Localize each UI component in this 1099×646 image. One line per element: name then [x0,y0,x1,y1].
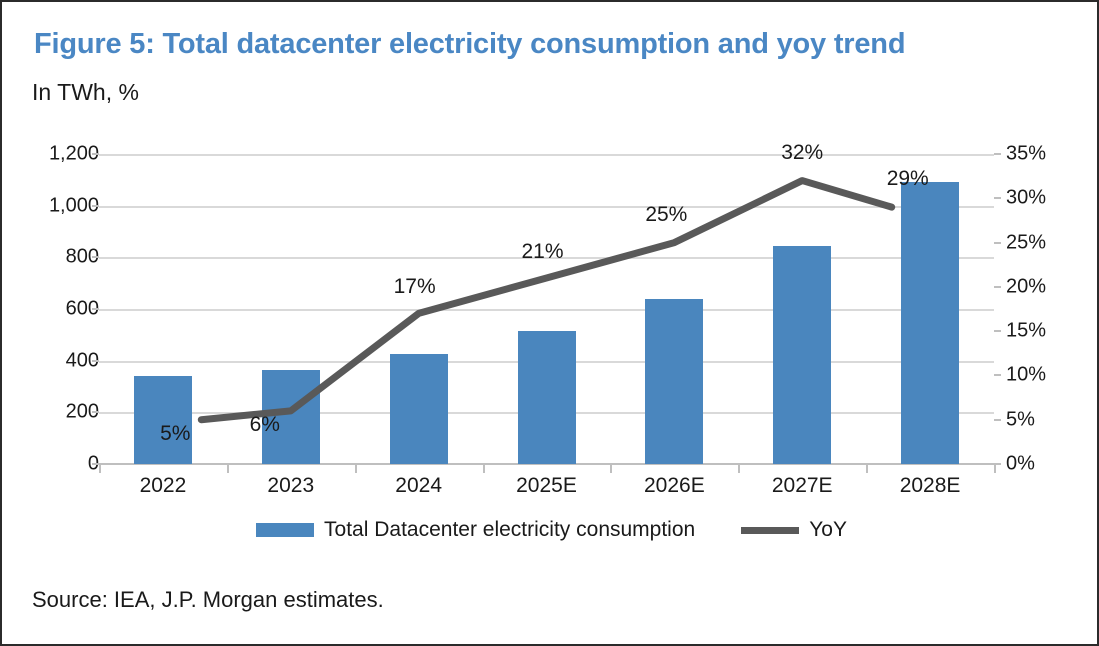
x-axis-label-2026E: 2026E [644,474,705,498]
legend-item-consumption[interactable]: Total Datacenter electricity consumption [256,518,695,542]
legend-label-yoy: YoY [809,518,847,542]
y-axis-left-tick-mark [92,205,99,207]
data-label-yoy-2026E: 25% [645,203,687,227]
x-axis-tick-mark [483,464,485,473]
bar-swatch-icon [256,523,314,537]
y-axis-right-tick-mark [994,153,1001,155]
x-axis-tick-mark [994,464,996,473]
y-axis-right-tick-mark [994,197,1001,199]
x-axis-label-2022: 2022 [140,474,187,498]
legend-label-consumption: Total Datacenter electricity consumption [324,518,695,542]
y-axis-left-tick-label: 1,200 [9,143,99,166]
x-axis-tick-mark [99,464,101,473]
data-label-yoy-2027E: 32% [781,141,823,165]
y-axis-left-tick-label: 0 [9,453,99,476]
y-axis-right-tick-mark [994,286,1001,288]
data-label-yoy-2023: 6% [250,413,280,437]
y-axis-right-tick-mark [994,242,1001,244]
y-axis-right-tick-label: 10% [1006,364,1096,387]
y-axis-right-tick-label: 30% [1006,187,1096,210]
chart-legend: Total Datacenter electricity consumption… [2,518,1099,542]
x-axis-label-2025E: 2025E [516,474,577,498]
x-axis-tick-mark [610,464,612,473]
line-swatch-icon [741,527,799,534]
y-axis-right-tick-mark [994,419,1001,421]
y-axis-right-tick-label: 5% [1006,408,1096,431]
y-axis-left-tick-mark [92,256,99,258]
data-label-yoy-2028E: 29% [887,167,929,191]
figure-container: Figure 5: Total datacenter electricity c… [0,0,1099,646]
x-axis-tick-mark [227,464,229,473]
y-axis-left-tick-mark [92,153,99,155]
y-axis-left-tick-label: 600 [9,298,99,321]
y-axis-right-tick-label: 20% [1006,275,1096,298]
y-axis-left-tick-mark [92,360,99,362]
data-label-yoy-2022: 5% [160,422,190,446]
y-axis-left-tick-mark [92,308,99,310]
chart-area: 02004006008001,0001,2000%5%10%15%20%25%3… [2,2,1099,646]
y-axis-right-tick-label: 35% [1006,143,1096,166]
x-axis-label-2028E: 2028E [900,474,961,498]
y-axis-right-tick-label: 15% [1006,320,1096,343]
y-axis-left-tick-label: 400 [9,349,99,372]
bar-2024[interactable] [390,354,448,464]
y-axis-right-tick-mark [994,374,1001,376]
bar-2025E[interactable] [518,331,576,464]
y-axis-left-tick-mark [92,463,99,465]
bar-2027E[interactable] [773,246,831,464]
x-axis-tick-mark [866,464,868,473]
gridline [99,206,994,208]
y-axis-right-tick-mark [994,330,1001,332]
data-label-yoy-2025E: 21% [521,240,563,264]
gridline [99,309,994,311]
y-axis-left-tick-label: 800 [9,246,99,269]
y-axis-right-tick-label: 25% [1006,231,1096,254]
y-axis-left-tick-label: 200 [9,401,99,424]
y-axis-right-tick-label: 0% [1006,453,1096,476]
x-axis-label-2027E: 2027E [772,474,833,498]
bar-2022[interactable] [134,376,192,464]
bar-2028E[interactable] [901,182,959,464]
y-axis-left-tick-label: 1,000 [9,194,99,217]
source-note: Source: IEA, J.P. Morgan estimates. [32,587,384,613]
data-label-yoy-2024: 17% [394,275,436,299]
gridline [99,154,994,156]
x-axis-label-2024: 2024 [395,474,442,498]
y-axis-left-tick-mark [92,411,99,413]
x-axis-tick-mark [355,464,357,473]
x-axis-label-2023: 2023 [267,474,314,498]
plot-area [99,154,994,464]
x-axis-tick-mark [738,464,740,473]
bar-2026E[interactable] [645,299,703,464]
legend-item-yoy[interactable]: YoY [741,518,847,542]
